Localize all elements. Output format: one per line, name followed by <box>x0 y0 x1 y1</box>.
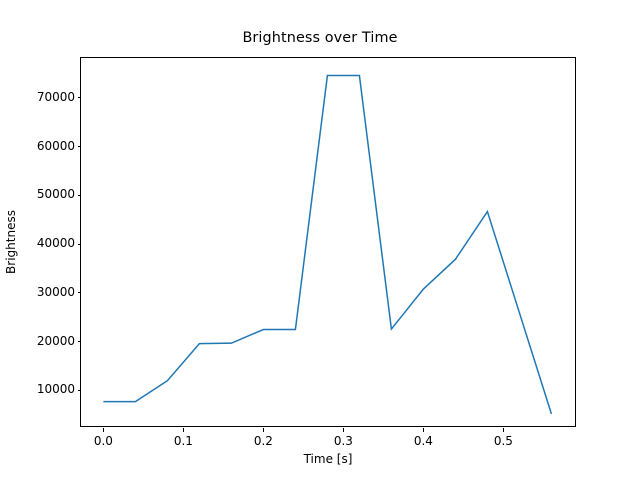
x-tick-label: 0.1 <box>174 434 193 448</box>
x-tick-label: 0.3 <box>334 434 353 448</box>
matplotlib-figure: Brightness over Time Brightness 10000200… <box>0 0 640 480</box>
x-tick-mark <box>263 428 264 432</box>
x-tick-label: 0.2 <box>254 434 273 448</box>
x-tick-label: 0.0 <box>94 434 113 448</box>
x-tick-mark <box>423 428 424 432</box>
y-axis-label-text: Brightness <box>4 210 18 274</box>
y-tick-label: 60000 <box>37 139 75 153</box>
x-tick-mark <box>103 428 104 432</box>
y-tick-label: 20000 <box>37 334 75 348</box>
y-tick-label: 70000 <box>37 90 75 104</box>
brightness-line-series <box>103 76 551 414</box>
chart-title: Brightness over Time <box>0 30 640 46</box>
y-axis-label: Brightness <box>0 57 22 427</box>
y-tick-label: 40000 <box>37 236 75 250</box>
x-tick-label: 0.5 <box>494 434 513 448</box>
y-tick-label: 50000 <box>37 187 75 201</box>
plot-axes: 10000200003000040000500006000070000 0.00… <box>80 57 576 427</box>
y-tick-label: 30000 <box>37 285 75 299</box>
data-line-svg <box>81 58 577 428</box>
y-tick-label: 10000 <box>37 382 75 396</box>
x-axis-label: Time [s] <box>80 452 576 466</box>
x-tick-mark <box>343 428 344 432</box>
x-tick-mark <box>503 428 504 432</box>
x-tick-label: 0.4 <box>414 434 433 448</box>
x-tick-mark <box>183 428 184 432</box>
